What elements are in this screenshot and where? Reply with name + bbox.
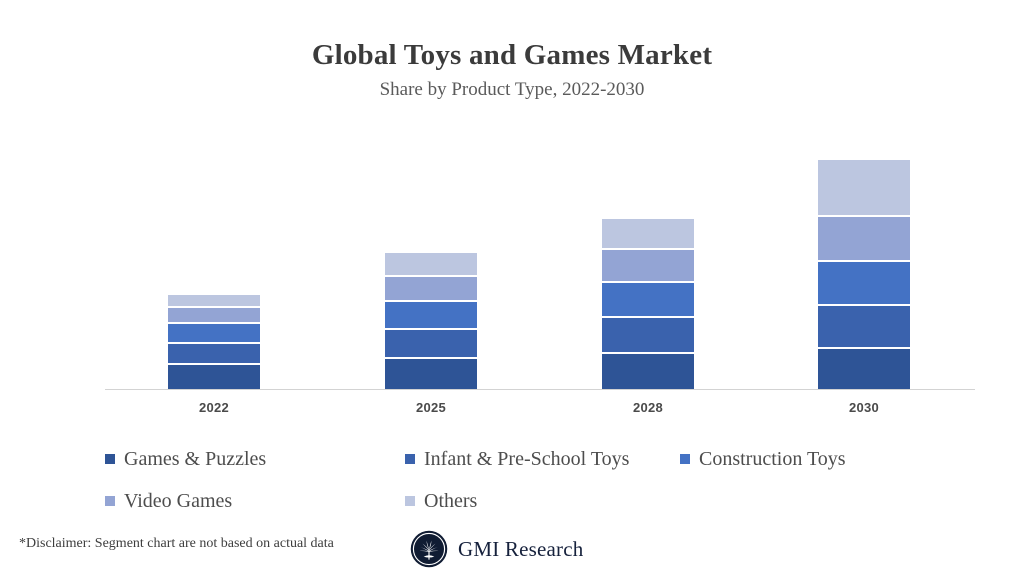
legend-item-construction-toys[interactable]: Construction Toys [680,448,920,471]
bar-stack-2028[interactable] [602,219,694,389]
legend-swatch-icon [405,496,415,506]
bar-segment[interactable] [818,349,910,389]
bar-segment[interactable] [168,308,260,324]
legend-row: Games & PuzzlesInfant & Pre-School ToysC… [105,438,945,480]
bar-segment[interactable] [168,295,260,308]
bar-stack-2030[interactable] [818,160,910,389]
bar-segment[interactable] [385,330,477,359]
brand-name: GMI Research [458,537,583,562]
bar-segment[interactable] [602,318,694,354]
x-tick-label-2030: 2030 [818,400,910,415]
bar-segment[interactable] [168,365,260,389]
bar-segment[interactable] [818,217,910,262]
bar-segment[interactable] [385,253,477,277]
x-axis-line [105,389,975,390]
bar-stack-2022[interactable] [168,295,260,389]
legend-item-label: Construction Toys [699,448,846,471]
x-tick-label-2022: 2022 [168,400,260,415]
bar-segment[interactable] [818,306,910,349]
legend-swatch-icon [405,454,415,464]
legend-swatch-icon [680,454,690,464]
disclaimer-text: *Disclaimer: Segment chart are not based… [19,536,334,552]
bar-stack-2025[interactable] [385,253,477,389]
bar-segment[interactable] [168,324,260,344]
legend-swatch-icon [105,454,115,464]
legend-swatch-icon [105,496,115,506]
chart-footer: *Disclaimer: Segment chart are not based… [0,528,1024,576]
bar-segment[interactable] [602,219,694,250]
legend-item-video-games[interactable]: Video Games [105,490,405,513]
bar-segment[interactable] [602,354,694,389]
bar-segment[interactable] [818,262,910,306]
bar-segment[interactable] [385,277,477,302]
bar-segment[interactable] [602,283,694,318]
bar-segment[interactable] [385,302,477,330]
x-tick-label-2025: 2025 [385,400,477,415]
bar-segment[interactable] [602,250,694,283]
chart-legend: Games & PuzzlesInfant & Pre-School ToysC… [105,438,945,522]
legend-item-others[interactable]: Others [405,490,680,513]
legend-item-label: Video Games [124,490,232,513]
legend-row: Video GamesOthers [105,480,945,522]
brand-logo: GMI Research [410,530,583,568]
legend-item-infant-pre-school-toys[interactable]: Infant & Pre-School Toys [405,448,680,471]
bar-segment[interactable] [818,160,910,217]
legend-item-games-puzzles[interactable]: Games & Puzzles [105,448,405,471]
legend-item-label: Games & Puzzles [124,448,266,471]
gmi-fan-emblem-icon [410,530,448,568]
legend-item-label: Infant & Pre-School Toys [424,448,629,471]
bar-segment[interactable] [168,344,260,365]
x-tick-label-2028: 2028 [602,400,694,415]
bar-segment[interactable] [385,359,477,389]
legend-item-label: Others [424,490,477,513]
